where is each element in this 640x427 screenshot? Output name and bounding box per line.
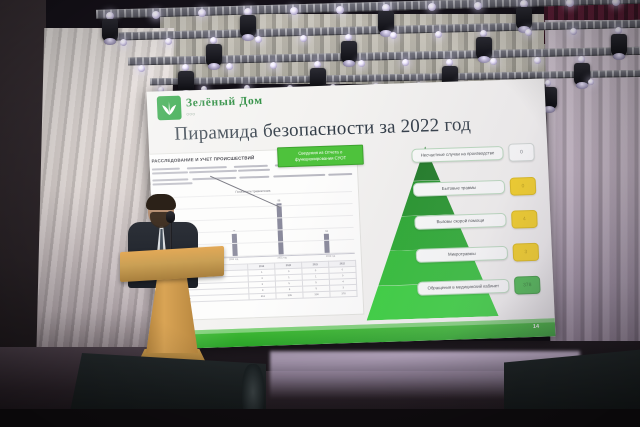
presenter-hair xyxy=(146,194,176,210)
pyramid-level[interactable]: Вызовы скорой помощи4 xyxy=(414,210,538,232)
callout-text: Сведения из Отчета о функционировании СУ… xyxy=(280,149,360,163)
chart-bar xyxy=(232,234,238,256)
chart-bar xyxy=(324,234,330,254)
stage-light-icon xyxy=(120,39,127,46)
slide-number: 14 xyxy=(533,324,539,330)
stage-light-icon xyxy=(570,28,577,35)
podium-column xyxy=(146,275,198,353)
table-cell: 378 xyxy=(330,291,357,298)
microphone-icon xyxy=(166,211,175,223)
stage-light-icon xyxy=(474,2,482,10)
stage-light-icon xyxy=(290,7,298,15)
moving-head-light-icon xyxy=(611,34,627,56)
brand-tagline: ООО xyxy=(186,110,263,117)
pyramid-level[interactable]: Бытовые травмы0 xyxy=(413,177,537,199)
moving-head-light-icon xyxy=(378,11,394,33)
moving-head-light-icon xyxy=(476,37,492,59)
stage-light-icon xyxy=(210,37,217,44)
chart-bar-value: 34 xyxy=(325,230,328,233)
pyramid-level[interactable]: Несчастные случаи на производстве0 xyxy=(411,143,535,165)
podium xyxy=(120,249,224,375)
stage-light-icon xyxy=(138,65,145,72)
pyramid-level-value: 378 xyxy=(514,276,541,295)
pyramid-level-label: Вызовы скорой помощи xyxy=(414,213,507,230)
chart-x-tick: 2022 год xyxy=(311,255,350,259)
stage-light-icon xyxy=(165,38,172,45)
pyramid-level-label: Несчастные случаи на производстве xyxy=(411,146,504,163)
table-cell: 390 xyxy=(303,292,330,299)
moving-head-light-icon xyxy=(102,19,118,41)
stage-light-icon xyxy=(446,59,453,66)
stage-light-icon xyxy=(300,35,307,42)
pyramid-level-label: Бытовые травмы xyxy=(413,180,506,197)
moving-head-light-icon xyxy=(240,15,256,37)
pyramid-level[interactable]: Микротравмы3 xyxy=(415,243,539,265)
stage-light-icon xyxy=(534,57,541,64)
stage-light-icon xyxy=(428,3,436,11)
chart-bar-group: 88 xyxy=(260,199,299,255)
moving-head-light-icon xyxy=(341,41,357,63)
callout-box: Сведения из Отчета о функционировании СУ… xyxy=(277,145,364,167)
chart-bar-value: 88 xyxy=(278,200,281,203)
stage-light-icon xyxy=(152,11,160,19)
stage-light-icon xyxy=(615,27,622,34)
moving-head-light-icon xyxy=(516,7,532,29)
pyramid-level-value: 0 xyxy=(510,177,537,196)
stage-light-icon xyxy=(490,58,497,65)
pyramid-level[interactable]: Обращения в медицинский кабинет378 xyxy=(417,276,541,298)
stage-light-icon xyxy=(255,36,262,43)
presentation-room-photo: Зелёный Дом ООО Пирамида безопасности за… xyxy=(0,0,640,427)
pyramid-level-label: Микротравмы xyxy=(416,246,509,263)
stage-front-edge xyxy=(0,409,640,427)
safety-pyramid: Несчастные случаи на производстве0Бытовы… xyxy=(353,138,556,322)
stage-light-icon xyxy=(578,56,585,63)
chart-x-tick: 2021 год xyxy=(263,256,302,260)
moving-head-light-icon xyxy=(206,44,222,66)
brand-name: Зелёный Дом xyxy=(186,96,263,110)
podium-top xyxy=(120,246,224,282)
leaf-logo-icon xyxy=(157,96,182,121)
stage-light-icon xyxy=(345,34,352,41)
pyramid-level-value: 0 xyxy=(508,143,535,162)
pyramid-level-label: Обращения в медицинский кабинет xyxy=(417,279,510,296)
brand-logo: Зелёный Дом ООО xyxy=(157,93,264,120)
table-cell: 395 xyxy=(276,293,303,300)
pyramid-level-value: 3 xyxy=(512,243,539,262)
pyramid-level-value: 4 xyxy=(511,210,538,229)
table-cell: 412 xyxy=(249,294,276,301)
stage-light-icon xyxy=(336,6,344,14)
